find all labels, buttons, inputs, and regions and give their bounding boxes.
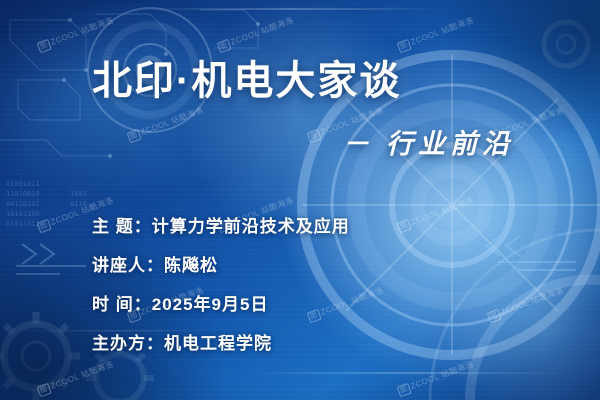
info-row-speaker: 讲座人：陈飚松 xyxy=(92,251,350,276)
info-value-speaker: 陈飚松 xyxy=(164,256,218,275)
poster-info-list: 主 题：计算力学前沿技术及应用 讲座人：陈飚松 时 间：2025年9月5日 主办… xyxy=(92,212,350,354)
info-row-organizer: 主办方：机电工程学院 xyxy=(92,329,350,354)
poster-canvas: 01001011 11010010 00110101 10101100 0101… xyxy=(0,0,600,400)
info-label-organizer: 主办方： xyxy=(92,334,164,353)
info-label-time: 时 间： xyxy=(92,295,152,314)
poster-main-title: 北印·机电大家谈 xyxy=(92,48,401,106)
info-value-topic: 计算力学前沿技术及应用 xyxy=(152,217,350,236)
info-value-time: 2025年9月5日 xyxy=(152,295,269,314)
info-label-topic: 主 题： xyxy=(92,217,152,236)
info-label-speaker: 讲座人： xyxy=(92,256,164,275)
info-row-time: 时 间：2025年9月5日 xyxy=(92,290,350,315)
poster-content: 北印·机电大家谈 － 行业前沿 主 题：计算力学前沿技术及应用 讲座人：陈飚松 … xyxy=(0,0,600,400)
poster-subtitle: － 行业前沿 xyxy=(342,122,514,161)
info-row-topic: 主 题：计算力学前沿技术及应用 xyxy=(92,212,350,237)
info-value-organizer: 机电工程学院 xyxy=(164,334,272,353)
